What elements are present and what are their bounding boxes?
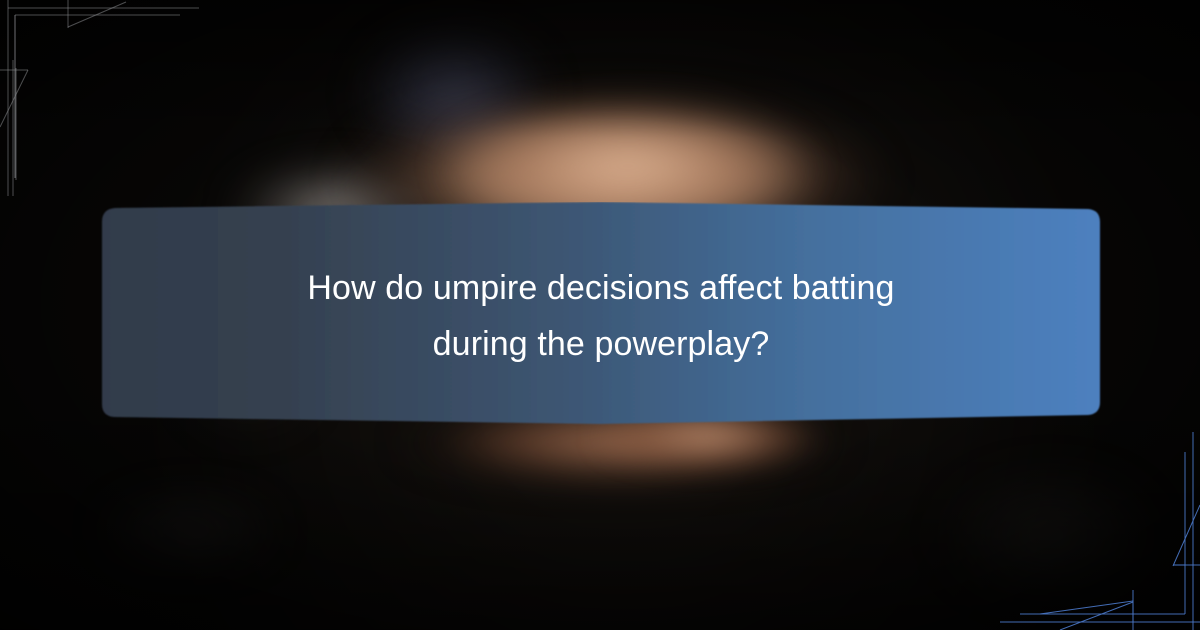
headline-text-block: How do umpire decisions affect batting d… xyxy=(100,202,1102,426)
share-card-canvas: How do umpire decisions affect batting d… xyxy=(0,0,1200,630)
headline-line-1: How do umpire decisions affect batting xyxy=(307,260,894,316)
headline-line-2: during the powerplay? xyxy=(433,316,770,372)
headline-banner: How do umpire decisions affect batting d… xyxy=(100,202,1102,426)
